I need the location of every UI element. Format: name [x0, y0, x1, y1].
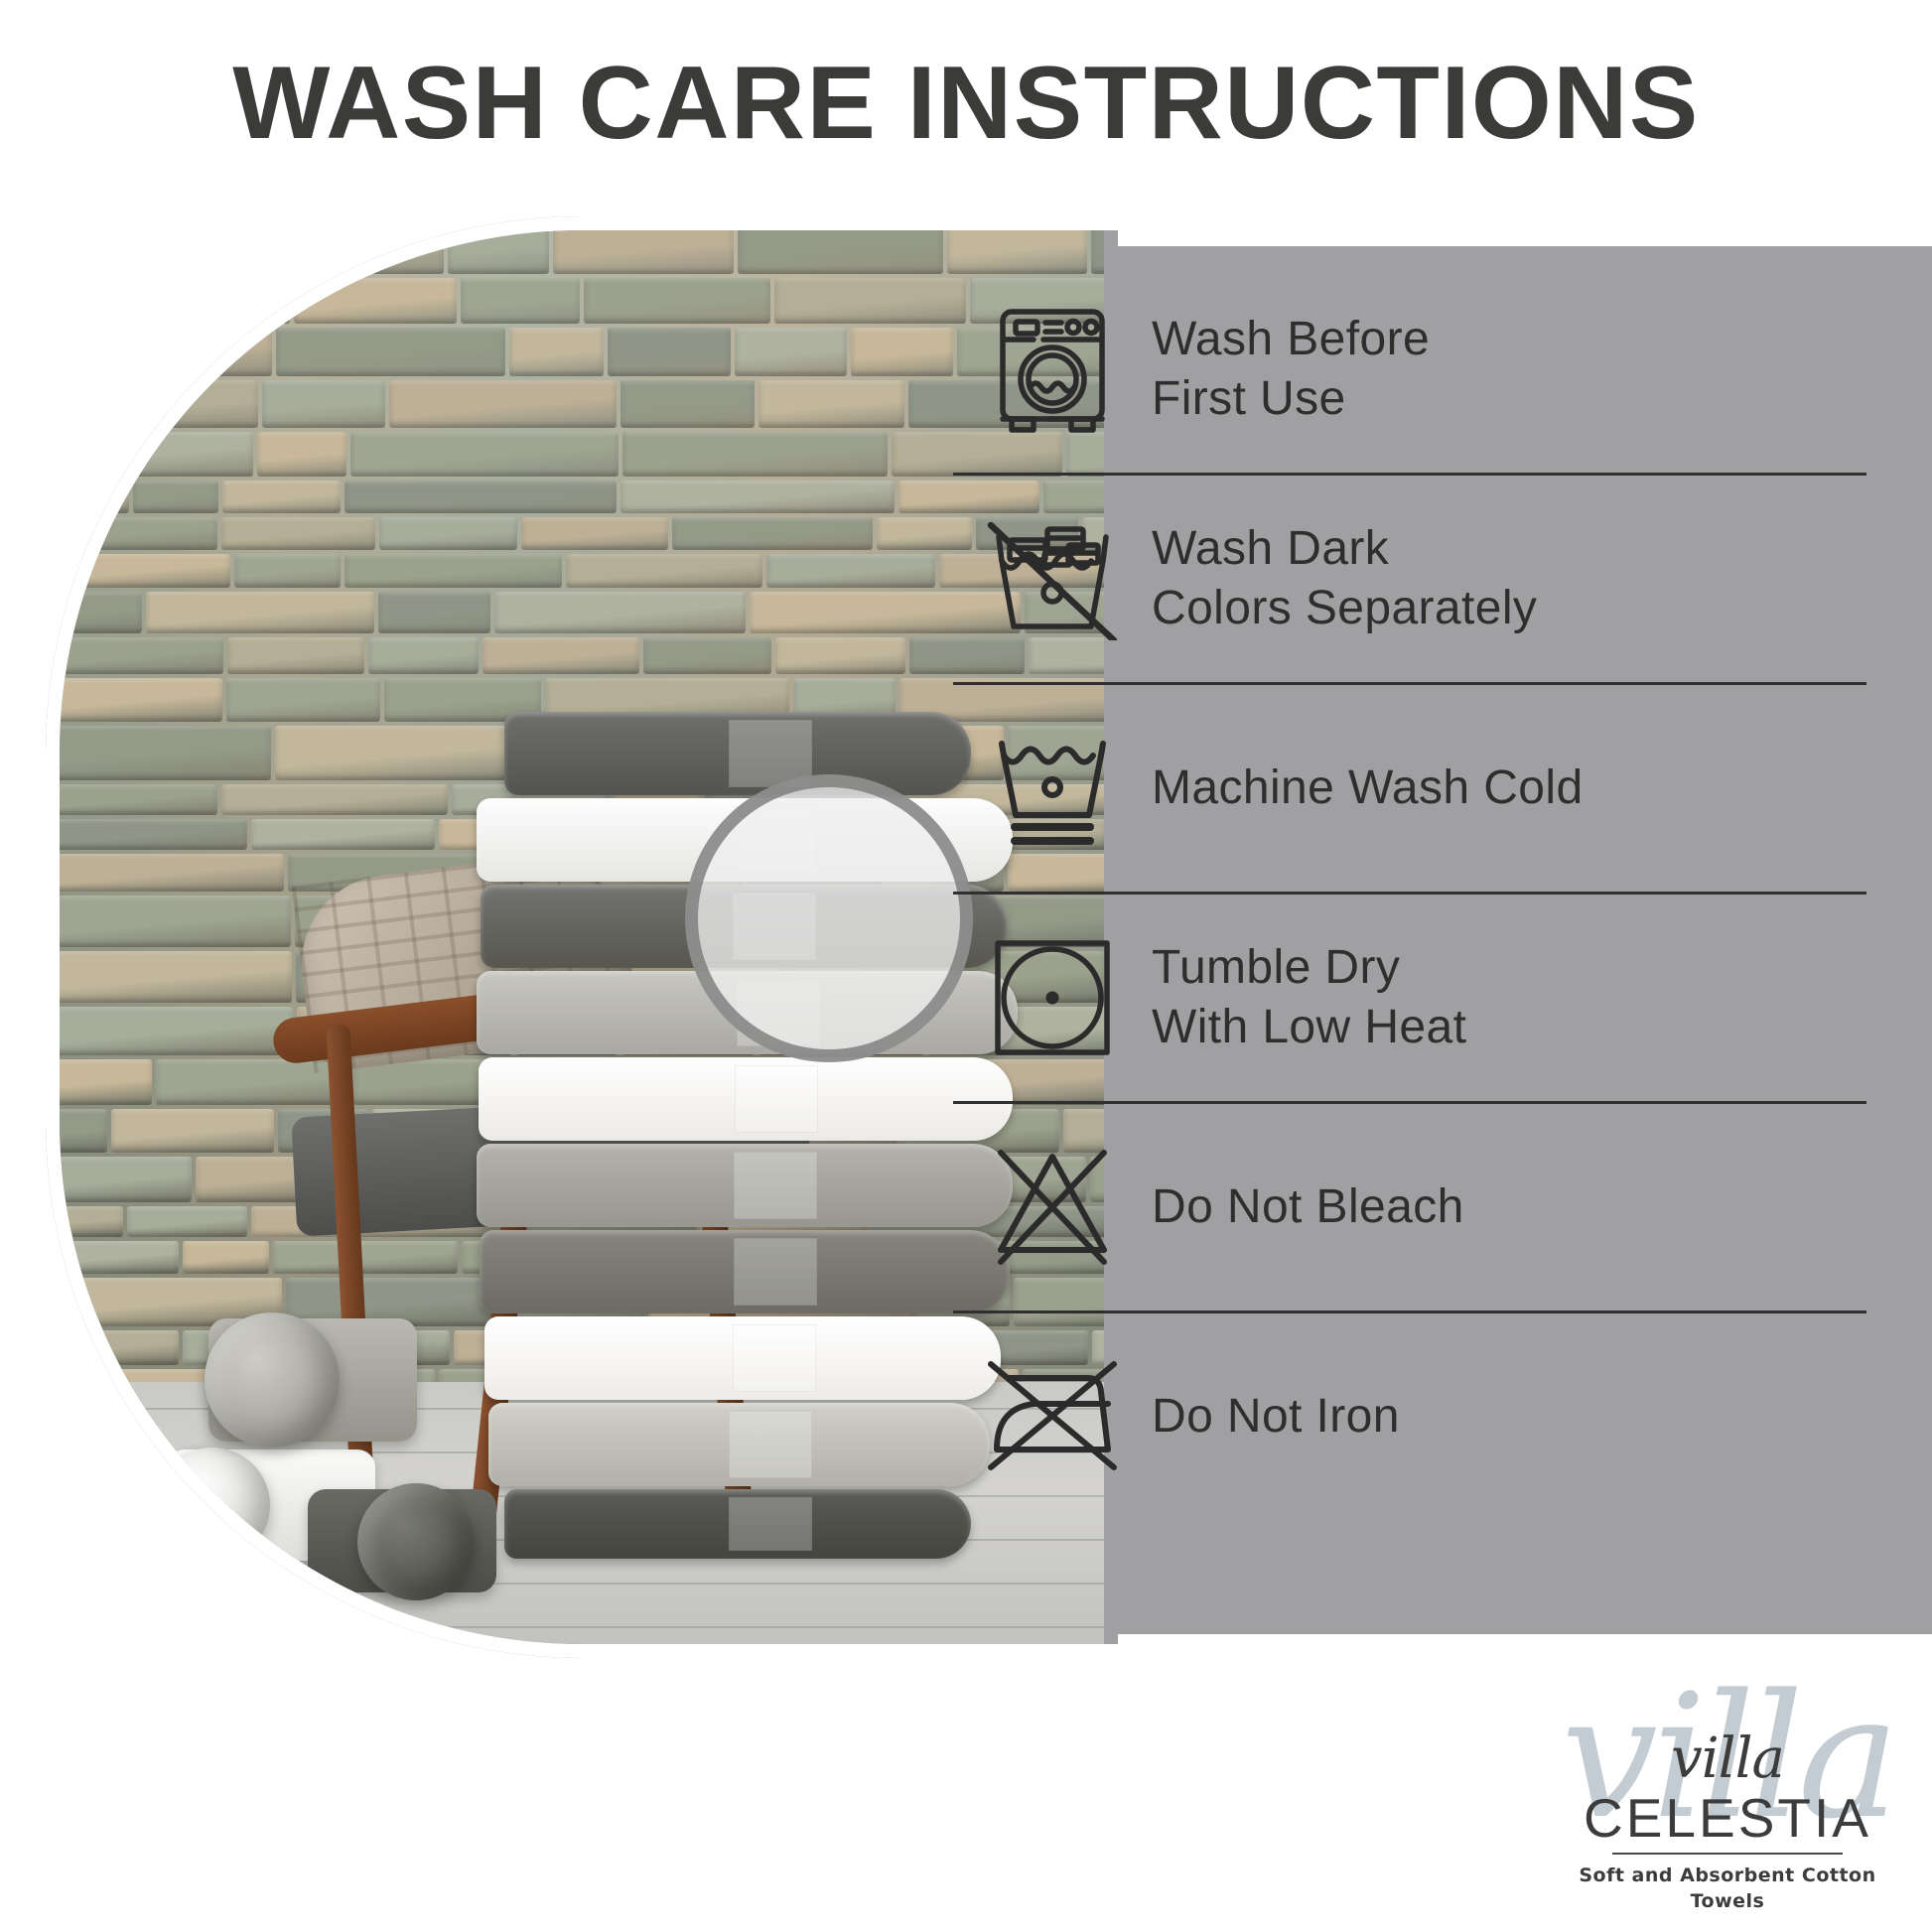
towel-item — [504, 1489, 971, 1559]
care-row-label: Wash Before First Use — [1152, 310, 1430, 429]
stone-brick — [138, 380, 258, 428]
stone-brick — [774, 278, 966, 324]
stone-brick — [222, 481, 341, 513]
stone-brick — [60, 637, 223, 674]
care-row-label: Machine Wash Cold — [1152, 759, 1584, 818]
stone-brick — [521, 517, 668, 550]
stone-brick — [379, 517, 517, 550]
towel-item — [477, 1144, 1013, 1227]
stone-brick — [60, 432, 253, 477]
stone-brick — [60, 726, 271, 780]
care-row-do-not-iron[interactable]: Do Not Iron — [953, 1313, 1876, 1520]
towel-item — [484, 1316, 1001, 1400]
stone-brick — [566, 554, 762, 588]
stone-brick — [621, 481, 895, 513]
towel-item — [479, 1057, 1013, 1141]
stone-brick — [851, 328, 953, 376]
brand-logo: villa villa CELESTIA Soft and Absorbent … — [1549, 1678, 1906, 1926]
stone-brick — [60, 1007, 293, 1055]
stone-brick — [60, 592, 142, 633]
stone-brick — [60, 278, 290, 324]
stone-brick — [345, 554, 562, 588]
towel-item — [480, 1230, 1010, 1313]
stone-brick — [276, 328, 505, 376]
stone-brick — [257, 432, 346, 477]
stone-brick — [251, 819, 435, 850]
stone-brick — [672, 517, 873, 550]
care-row-tumble-dry-low-heat[interactable]: Tumble Dry With Low Heat — [953, 895, 1876, 1101]
washing-machine-icon — [953, 304, 1152, 435]
stone-brick — [622, 432, 888, 477]
stone-brick — [156, 1059, 349, 1105]
stone-brick — [483, 637, 639, 674]
stone-brick — [60, 896, 291, 947]
logo-name-celestia: CELESTIA — [1549, 1789, 1906, 1847]
stone-brick — [60, 678, 222, 722]
stone-brick — [775, 637, 905, 674]
wash-tub-one-dot-two-bars-icon — [953, 730, 1152, 847]
floor-tile-seam — [60, 1583, 1104, 1585]
stone-brick — [494, 592, 746, 633]
stone-brick — [127, 1206, 247, 1237]
stone-brick — [608, 328, 731, 376]
rolled-towel-gray-end — [205, 1312, 340, 1448]
stone-brick — [60, 328, 272, 376]
towel-item — [504, 712, 971, 795]
stone-brick — [60, 1157, 192, 1202]
stone-brick — [368, 637, 479, 674]
rolled-towel-charcoal-end — [357, 1483, 475, 1600]
logo-script-villa: villa — [1549, 1731, 1906, 1787]
stone-brick — [226, 678, 380, 722]
stone-brick — [273, 1241, 458, 1274]
stone-brick — [448, 230, 549, 274]
stone-brick — [111, 1109, 274, 1153]
care-row-label: Wash Dark Colors Separately — [1152, 519, 1537, 638]
stone-brick — [262, 380, 385, 428]
stone-brick — [759, 380, 904, 428]
stone-brick — [389, 380, 617, 428]
tumble-dry-low-heat-icon — [953, 935, 1152, 1060]
stone-brick — [553, 230, 734, 274]
stone-brick — [60, 380, 134, 428]
stone-brick — [461, 278, 580, 324]
stone-brick — [221, 517, 375, 550]
stone-brick — [60, 517, 217, 550]
stone-brick — [60, 481, 129, 513]
stone-brick — [227, 637, 364, 674]
care-row-label: Tumble Dry With Low Heat — [1152, 938, 1466, 1057]
stone-brick — [146, 592, 374, 633]
stone-brick — [643, 637, 771, 674]
no-mixed-wash-basin-icon — [953, 517, 1152, 640]
stone-brick — [766, 554, 935, 588]
floor-tile-seam — [60, 1626, 1104, 1628]
care-row-wash-dark-colors-separately[interactable]: Wash Dark Colors Separately — [953, 476, 1876, 682]
stone-brick — [350, 432, 619, 477]
stone-brick — [60, 1109, 107, 1153]
stone-brick — [735, 328, 847, 376]
stone-brick — [60, 230, 183, 274]
stone-brick — [294, 278, 457, 324]
stone-brick — [60, 819, 247, 850]
accent-circle — [685, 774, 973, 1062]
care-row-machine-wash-cold[interactable]: Machine Wash Cold — [953, 685, 1876, 892]
stone-brick — [60, 554, 230, 588]
stone-brick — [187, 230, 444, 274]
rolled-towel-white-end — [155, 1448, 270, 1563]
do-not-iron-icon — [953, 1358, 1152, 1475]
stone-brick — [60, 1059, 152, 1105]
stone-brick — [221, 784, 448, 815]
stone-brick — [60, 1241, 179, 1274]
stone-brick — [60, 1330, 179, 1365]
care-row-label: Do Not Iron — [1152, 1387, 1400, 1447]
stone-brick — [133, 481, 218, 513]
stone-brick — [738, 230, 943, 274]
stone-brick — [234, 554, 341, 588]
care-row-do-not-bleach[interactable]: Do Not Bleach — [953, 1104, 1876, 1311]
do-not-bleach-triangle-icon — [953, 1145, 1152, 1270]
care-row-label: Do Not Bleach — [1152, 1177, 1464, 1237]
stone-brick — [584, 278, 770, 324]
stone-brick — [345, 481, 617, 513]
towel-item — [488, 1403, 990, 1486]
stone-brick — [60, 1206, 123, 1237]
care-instruction-list: Wash Before First Use — [953, 266, 1876, 1520]
stone-brick — [60, 854, 284, 892]
stone-brick — [60, 951, 292, 1003]
care-row-wash-before-first-use[interactable]: Wash Before First Use — [953, 266, 1876, 473]
stone-brick — [378, 592, 490, 633]
stone-brick — [621, 380, 755, 428]
stone-brick — [183, 1241, 269, 1274]
stone-brick — [196, 1157, 304, 1202]
page-title: WASH CARE INSTRUCTIONS — [0, 46, 1932, 161]
stone-brick — [509, 328, 604, 376]
infographic-canvas: WASH CARE INSTRUCTIONS — [0, 0, 1932, 1932]
stone-brick — [60, 784, 217, 815]
logo-underline — [1612, 1853, 1843, 1855]
logo-tagline: Soft and Absorbent Cotton Towels — [1549, 1863, 1906, 1914]
